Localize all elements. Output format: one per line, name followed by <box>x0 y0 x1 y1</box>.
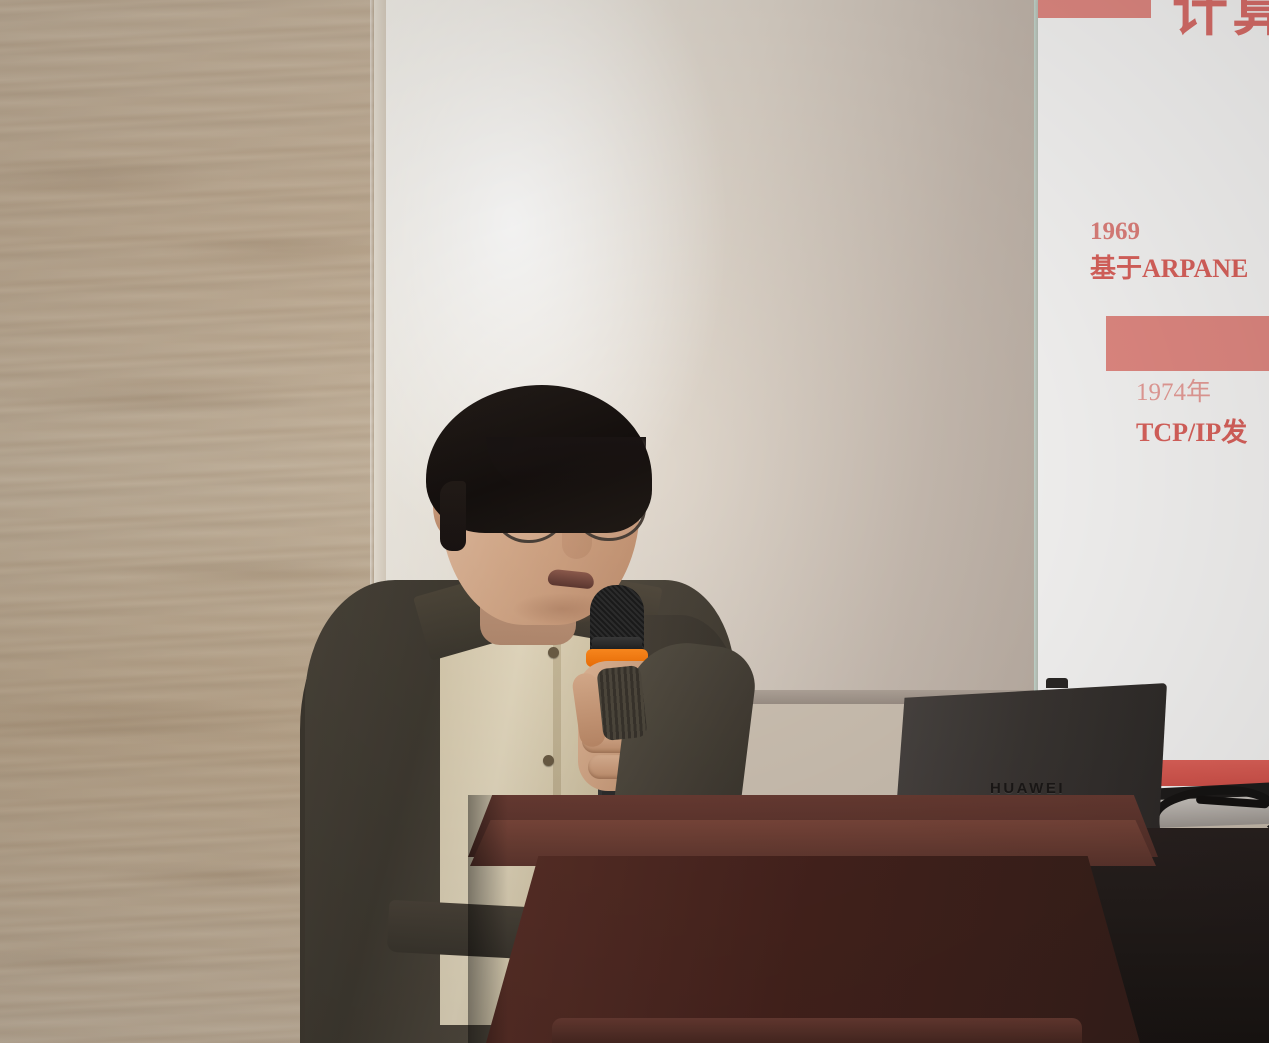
podium-base-rail <box>552 1018 1082 1043</box>
podium-body <box>486 856 1140 1043</box>
slide-entry-description: TCP/IP发 <box>1136 412 1247 449</box>
podium-left-shadow <box>468 795 508 1043</box>
laptop-brand-label: HUAWEI <box>990 780 1065 797</box>
slide-entry-1969: 1969 基于ARPANE <box>1090 218 1248 285</box>
slide-accent-band-middle <box>1106 316 1269 371</box>
slide-entry-year: 1974年 <box>1136 372 1247 408</box>
laptop-hinge <box>1046 678 1068 688</box>
shirt-button <box>548 647 559 658</box>
jacket-ribbed-cuff <box>596 665 647 741</box>
slide-heading: 计算 <box>1172 0 1269 47</box>
presentation-photo: 计算 1969 基于ARPANE 1974年 TCP/IP发 <box>0 0 1269 1043</box>
slide-entry-year: 1969 <box>1090 218 1248 246</box>
slide-accent-band-top <box>1038 0 1151 18</box>
shirt-button <box>543 755 554 766</box>
slide-entry-description: 基于ARPANE <box>1090 248 1248 285</box>
slide-entry-1974: 1974年 TCP/IP发 <box>1136 372 1247 449</box>
hair-sideburn <box>440 481 466 551</box>
